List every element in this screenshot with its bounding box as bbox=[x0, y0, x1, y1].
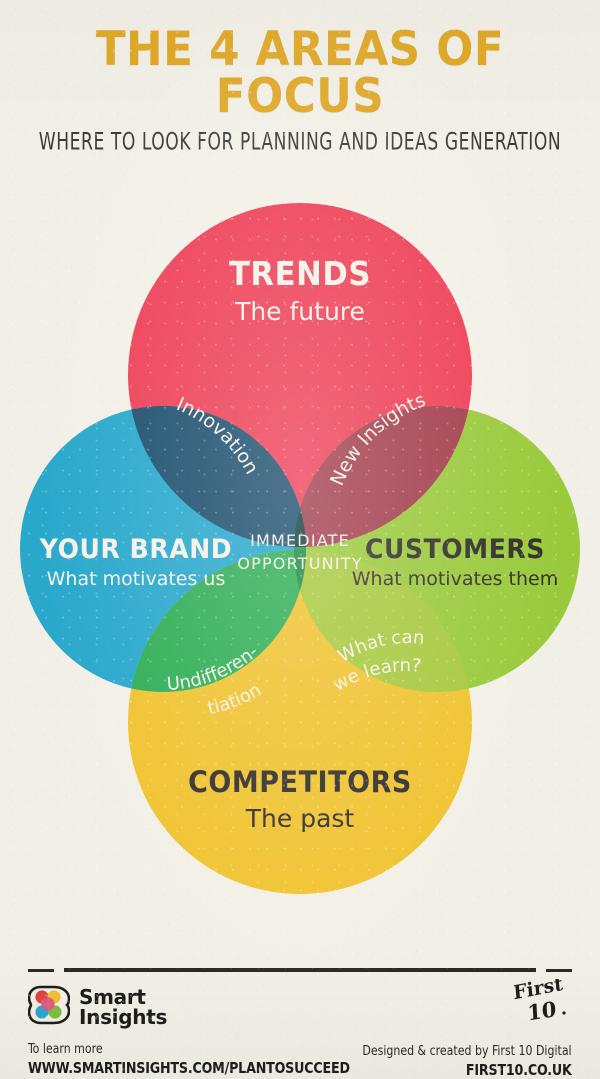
brand-line-2: Insights bbox=[79, 1007, 167, 1027]
divider-segment-right bbox=[546, 969, 572, 972]
footer-credit: Designed & created by First 10 Digital bbox=[363, 1044, 572, 1059]
brand-line-1: Smart bbox=[79, 987, 167, 1007]
label-your-brand-subtitle: What motivates us bbox=[47, 568, 226, 590]
smart-insights-logo-icon bbox=[28, 985, 70, 1029]
poster-header: THE 4 AREAS OF FOCUS WHERE TO LOOK FOR P… bbox=[0, 0, 600, 153]
label-your-brand-title: YOUR BRAND bbox=[39, 534, 232, 565]
footer-divider bbox=[28, 967, 572, 975]
label-competitors-title: COMPETITORS bbox=[188, 765, 412, 799]
smart-insights-wordmark: Smart Insights bbox=[79, 987, 167, 1027]
label-customers-title: CUSTOMERS bbox=[365, 534, 545, 565]
poster-footer: Smart Insights To learn more WWW.SMARTIN… bbox=[0, 957, 600, 1079]
footer-smartinsights-url[interactable]: WWW.SMARTINSIGHTS.COM/PLANTOSUCCEED bbox=[28, 1059, 350, 1077]
infographic-poster: THE 4 AREAS OF FOCUS WHERE TO LOOK FOR P… bbox=[0, 0, 600, 1079]
label-competitors-subtitle: The past bbox=[245, 804, 355, 833]
divider-segment-center bbox=[64, 968, 536, 972]
label-immediate-opportunity-line1: IMMEDIATE bbox=[250, 531, 350, 550]
label-immediate-opportunity-line2: OPPORTUNITY bbox=[237, 554, 362, 573]
footer-left-block: Smart Insights To learn more WWW.SMARTIN… bbox=[28, 985, 370, 1077]
footer-first10-url[interactable]: FIRST10.CO.UK bbox=[363, 1061, 572, 1079]
svg-text:10: 10 bbox=[527, 996, 557, 1026]
page-subtitle: WHERE TO LOOK FOR PLANNING AND IDEAS GEN… bbox=[15, 127, 585, 155]
divider-segment-left bbox=[28, 969, 54, 972]
first-10-logo-icon: First 10 bbox=[514, 979, 572, 1031]
footer-caption: To learn more bbox=[28, 1042, 350, 1057]
label-customers-subtitle: What motivates them bbox=[352, 568, 558, 590]
label-trends-subtitle: The future bbox=[234, 297, 365, 326]
page-title: THE 4 AREAS OF FOCUS bbox=[21, 0, 579, 120]
footer-right-block: First 10 Designed & created by First 10 … bbox=[349, 979, 572, 1079]
label-trends-title: TRENDS bbox=[229, 254, 371, 293]
